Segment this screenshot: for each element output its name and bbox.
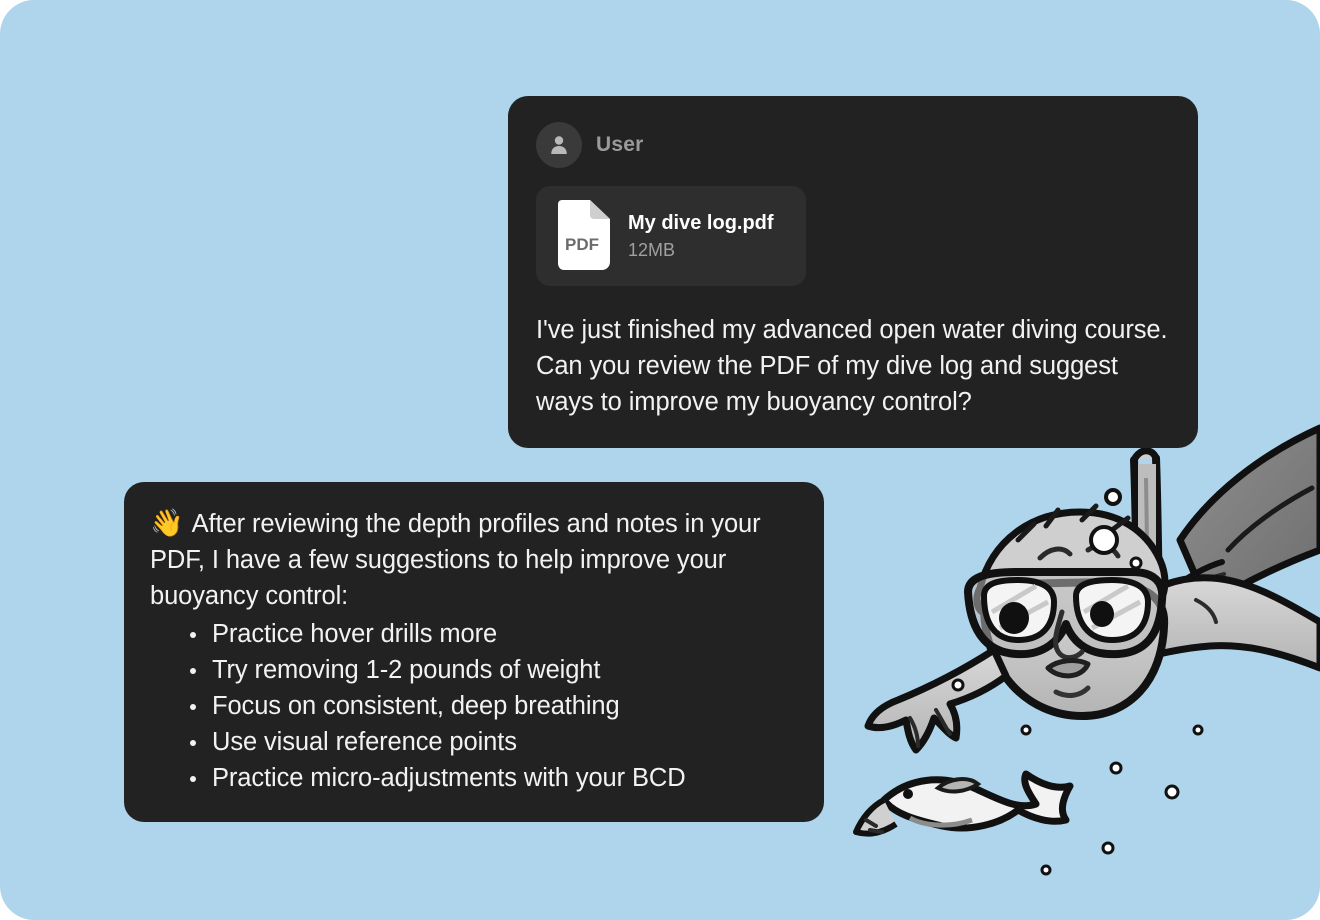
list-item: Use visual reference points bbox=[190, 724, 796, 760]
list-item: Practice micro-adjustments with your BCD bbox=[190, 760, 796, 796]
attachment-file-name: My dive log.pdf bbox=[628, 212, 774, 235]
assistant-intro-text: After reviewing the depth profiles and n… bbox=[150, 510, 761, 610]
assistant-message-bubble: 👋After reviewing the depth profiles and … bbox=[124, 482, 824, 822]
fish-icon bbox=[856, 774, 1070, 834]
diver-shoulder-icon bbox=[1118, 578, 1320, 668]
svg-text:PDF: PDF bbox=[565, 235, 599, 254]
list-item: Focus on consistent, deep breathing bbox=[190, 688, 796, 724]
suggestion-list: Practice hover drills more Try removing … bbox=[150, 616, 796, 796]
user-message-text: I've just finished my advanced open wate… bbox=[536, 312, 1170, 420]
user-message-bubble: User PDF My dive log.pdf 12MB I've just … bbox=[508, 96, 1198, 448]
list-item: Practice hover drills more bbox=[190, 616, 796, 652]
diver-head-icon bbox=[968, 506, 1165, 716]
person-avatar-icon bbox=[536, 122, 582, 168]
bubbles-icon bbox=[953, 402, 1202, 874]
sender-name: User bbox=[596, 133, 644, 157]
screenshot-canvas: User PDF My dive log.pdf 12MB I've just … bbox=[0, 0, 1320, 920]
attachment-file-size: 12MB bbox=[628, 240, 774, 261]
attachment-card[interactable]: PDF My dive log.pdf 12MB bbox=[536, 186, 806, 286]
list-item: Try removing 1-2 pounds of weight bbox=[190, 652, 796, 688]
pdf-file-icon: PDF bbox=[552, 200, 610, 272]
attachment-meta: My dive log.pdf 12MB bbox=[628, 212, 774, 261]
snorkeler-illustration bbox=[850, 400, 1320, 920]
diver-arm-icon bbox=[868, 650, 1006, 750]
user-header: User bbox=[536, 122, 1170, 168]
assistant-intro-line: 👋After reviewing the depth profiles and … bbox=[150, 506, 796, 614]
waving-hand-icon: 👋 bbox=[150, 508, 184, 538]
wetsuit-sleeve-icon bbox=[1168, 428, 1320, 605]
snorkel-icon bbox=[1134, 451, 1160, 632]
